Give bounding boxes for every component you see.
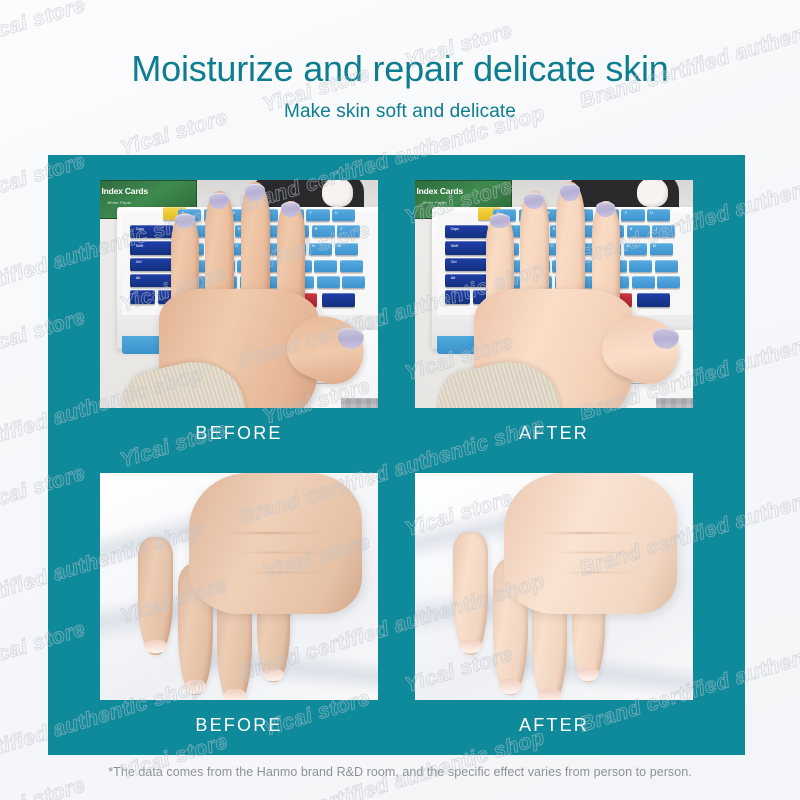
photo-before-keyboard: Index Cards White Paper Caps Shift Ctrl … xyxy=(100,180,378,408)
hand-back xyxy=(189,473,362,614)
fingernail xyxy=(490,214,509,228)
hand-after xyxy=(471,194,660,408)
fingernail xyxy=(184,680,206,694)
caption-before-row2: BEFORE xyxy=(100,715,378,736)
comparison-panel: Index Cards White Paper Caps Shift Ctrl … xyxy=(48,155,745,755)
hand-before xyxy=(133,478,367,700)
fingernail xyxy=(245,184,265,201)
fingernail xyxy=(578,668,599,680)
disclaimer-text: *The data comes from the Hanmo brand R&D… xyxy=(0,765,800,779)
fingernail xyxy=(596,202,615,217)
photo-after-keyboard: Index Cards White Paper Caps Shift Ctrl … xyxy=(415,180,693,408)
product-infographic: Moisturize and repair delicate skin Make… xyxy=(0,0,800,800)
header: Moisturize and repair delicate skin Make… xyxy=(0,48,800,123)
photo-before-fabric xyxy=(100,473,378,700)
page-title: Moisturize and repair delicate skin xyxy=(0,48,800,89)
index-cards-subtitle: White Paper xyxy=(108,200,132,205)
index-cards-subtitle: White Paper xyxy=(423,200,447,205)
fingernail xyxy=(499,679,521,694)
censored-region xyxy=(341,398,378,408)
fingernail xyxy=(524,193,544,209)
page-subtitle: Make skin soft and delicate xyxy=(0,101,800,123)
fingernail xyxy=(144,640,166,653)
index-cards-title: Index Cards xyxy=(102,186,148,196)
fingernail xyxy=(224,689,246,700)
fingernail xyxy=(539,689,561,700)
caption-after-row1: AFTER xyxy=(415,423,693,444)
index-cards-title: Index Cards xyxy=(417,186,463,196)
caption-after-row2: AFTER xyxy=(415,715,693,736)
fingernail xyxy=(263,669,284,681)
hand-before xyxy=(156,194,345,408)
fingernail xyxy=(281,202,300,217)
fingernail xyxy=(175,214,194,228)
photo-after-fabric xyxy=(415,473,693,700)
hand-after xyxy=(448,478,682,700)
caption-before-row1: BEFORE xyxy=(100,423,378,444)
hand-back xyxy=(504,473,677,614)
fingernail xyxy=(560,184,580,201)
fingernail xyxy=(459,640,481,653)
censored-region xyxy=(656,398,693,408)
fingernail xyxy=(209,193,229,209)
